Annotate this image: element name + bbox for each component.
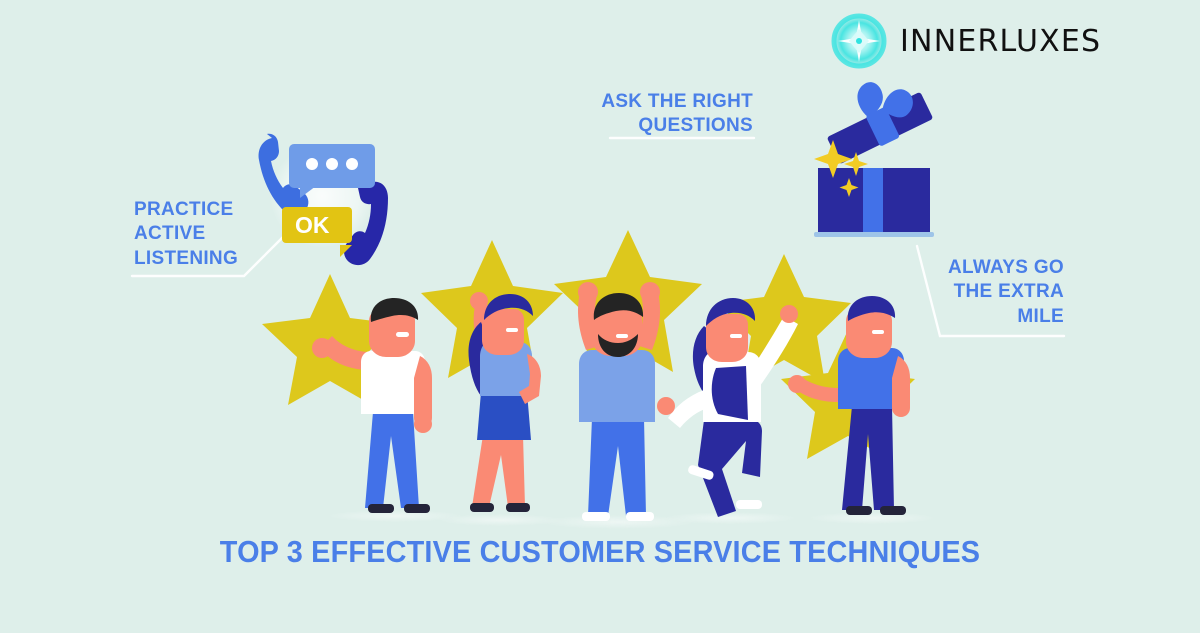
- brand-logo: INNERLUXES: [828, 10, 1101, 72]
- gift-box-icon: [813, 63, 934, 237]
- gift-box-base: [814, 232, 934, 237]
- legs: [588, 418, 646, 516]
- shoe: [846, 506, 872, 515]
- page-title: TOP 3 EFFECTIVE CUSTOMER SERVICE TECHNIQ…: [42, 534, 1158, 570]
- shoe: [506, 503, 530, 512]
- chat-dot: [306, 158, 318, 170]
- legs: [365, 412, 419, 508]
- ok-badge-label: OK: [295, 212, 330, 238]
- chat-dot: [346, 158, 358, 170]
- person-2: [469, 292, 542, 512]
- phone-chat-icon: OK: [259, 134, 388, 265]
- brand-name: INNERLUXES: [900, 24, 1101, 59]
- shoe: [582, 512, 610, 521]
- head: [706, 314, 748, 362]
- shoe: [404, 504, 430, 513]
- callout-practice-active-listening: PRACTICE ACTIVE LISTENING: [134, 198, 238, 271]
- vest: [712, 366, 748, 420]
- torso: [579, 350, 655, 422]
- callout-ask-the-right-questions: ASK THE RIGHT QUESTIONS: [530, 90, 753, 139]
- person-3: [578, 282, 660, 521]
- shoe: [880, 506, 906, 515]
- callout-always-go-the-extra-mile: ALWAYS GO THE EXTRA MILE: [880, 256, 1064, 329]
- shoe: [470, 503, 494, 512]
- compass-star-logo-icon: [828, 10, 890, 72]
- infographic-canvas: OK: [0, 0, 1200, 633]
- shoe: [368, 504, 394, 513]
- person-4: [657, 298, 798, 517]
- chat-dot: [326, 158, 338, 170]
- legs: [472, 435, 525, 507]
- shoe: [626, 512, 654, 521]
- gift-box-ribbon: [863, 168, 883, 236]
- shoe: [736, 500, 762, 509]
